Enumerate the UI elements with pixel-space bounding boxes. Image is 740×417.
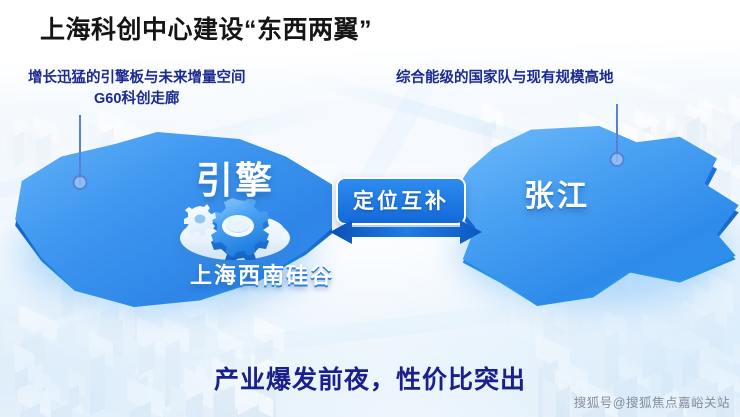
platform-left-caption: 上海西南硅谷 (190, 258, 334, 290)
platform-right-headline: 张江 (524, 171, 590, 215)
map-pin-right-icon (611, 104, 623, 162)
platform-right (438, 126, 740, 306)
callout-right-text: 综合能级的国家队与现有规模高地 (396, 68, 614, 89)
callout-left-line1: 增长迅猛的引擎板与未来增量空间 (28, 68, 246, 89)
callout-right-line1: 综合能级的国家队与现有规模高地 (396, 68, 614, 89)
double-headed-arrow-icon (330, 219, 482, 245)
connector-badge-label: 定位互补 (353, 190, 449, 213)
watermark: 搜狐号@搜狐焦点嘉峪关站 (574, 392, 730, 411)
map-pin-left-dot (73, 175, 88, 190)
map-pin-left-icon (74, 115, 86, 185)
footer-tagline: 产业爆发前夜，性价比突出 (0, 360, 740, 396)
page-title: 上海科创中心建设“东西两翼” (40, 10, 372, 46)
connector-badge: 定位互补 (336, 177, 466, 225)
infographic-canvas: 引擎 上海西南硅谷 张江 定位互补 上海科创中心建设“东西两翼” 增长迅猛的引擎… (0, 0, 740, 417)
map-pin-right-dot (610, 152, 625, 167)
callout-left-text: 增长迅猛的引擎板与未来增量空间 G60科创走廊 (28, 68, 246, 110)
platform-left-headline: 引擎 (196, 150, 274, 204)
callout-left-line2: G60科创走廊 (28, 89, 246, 110)
